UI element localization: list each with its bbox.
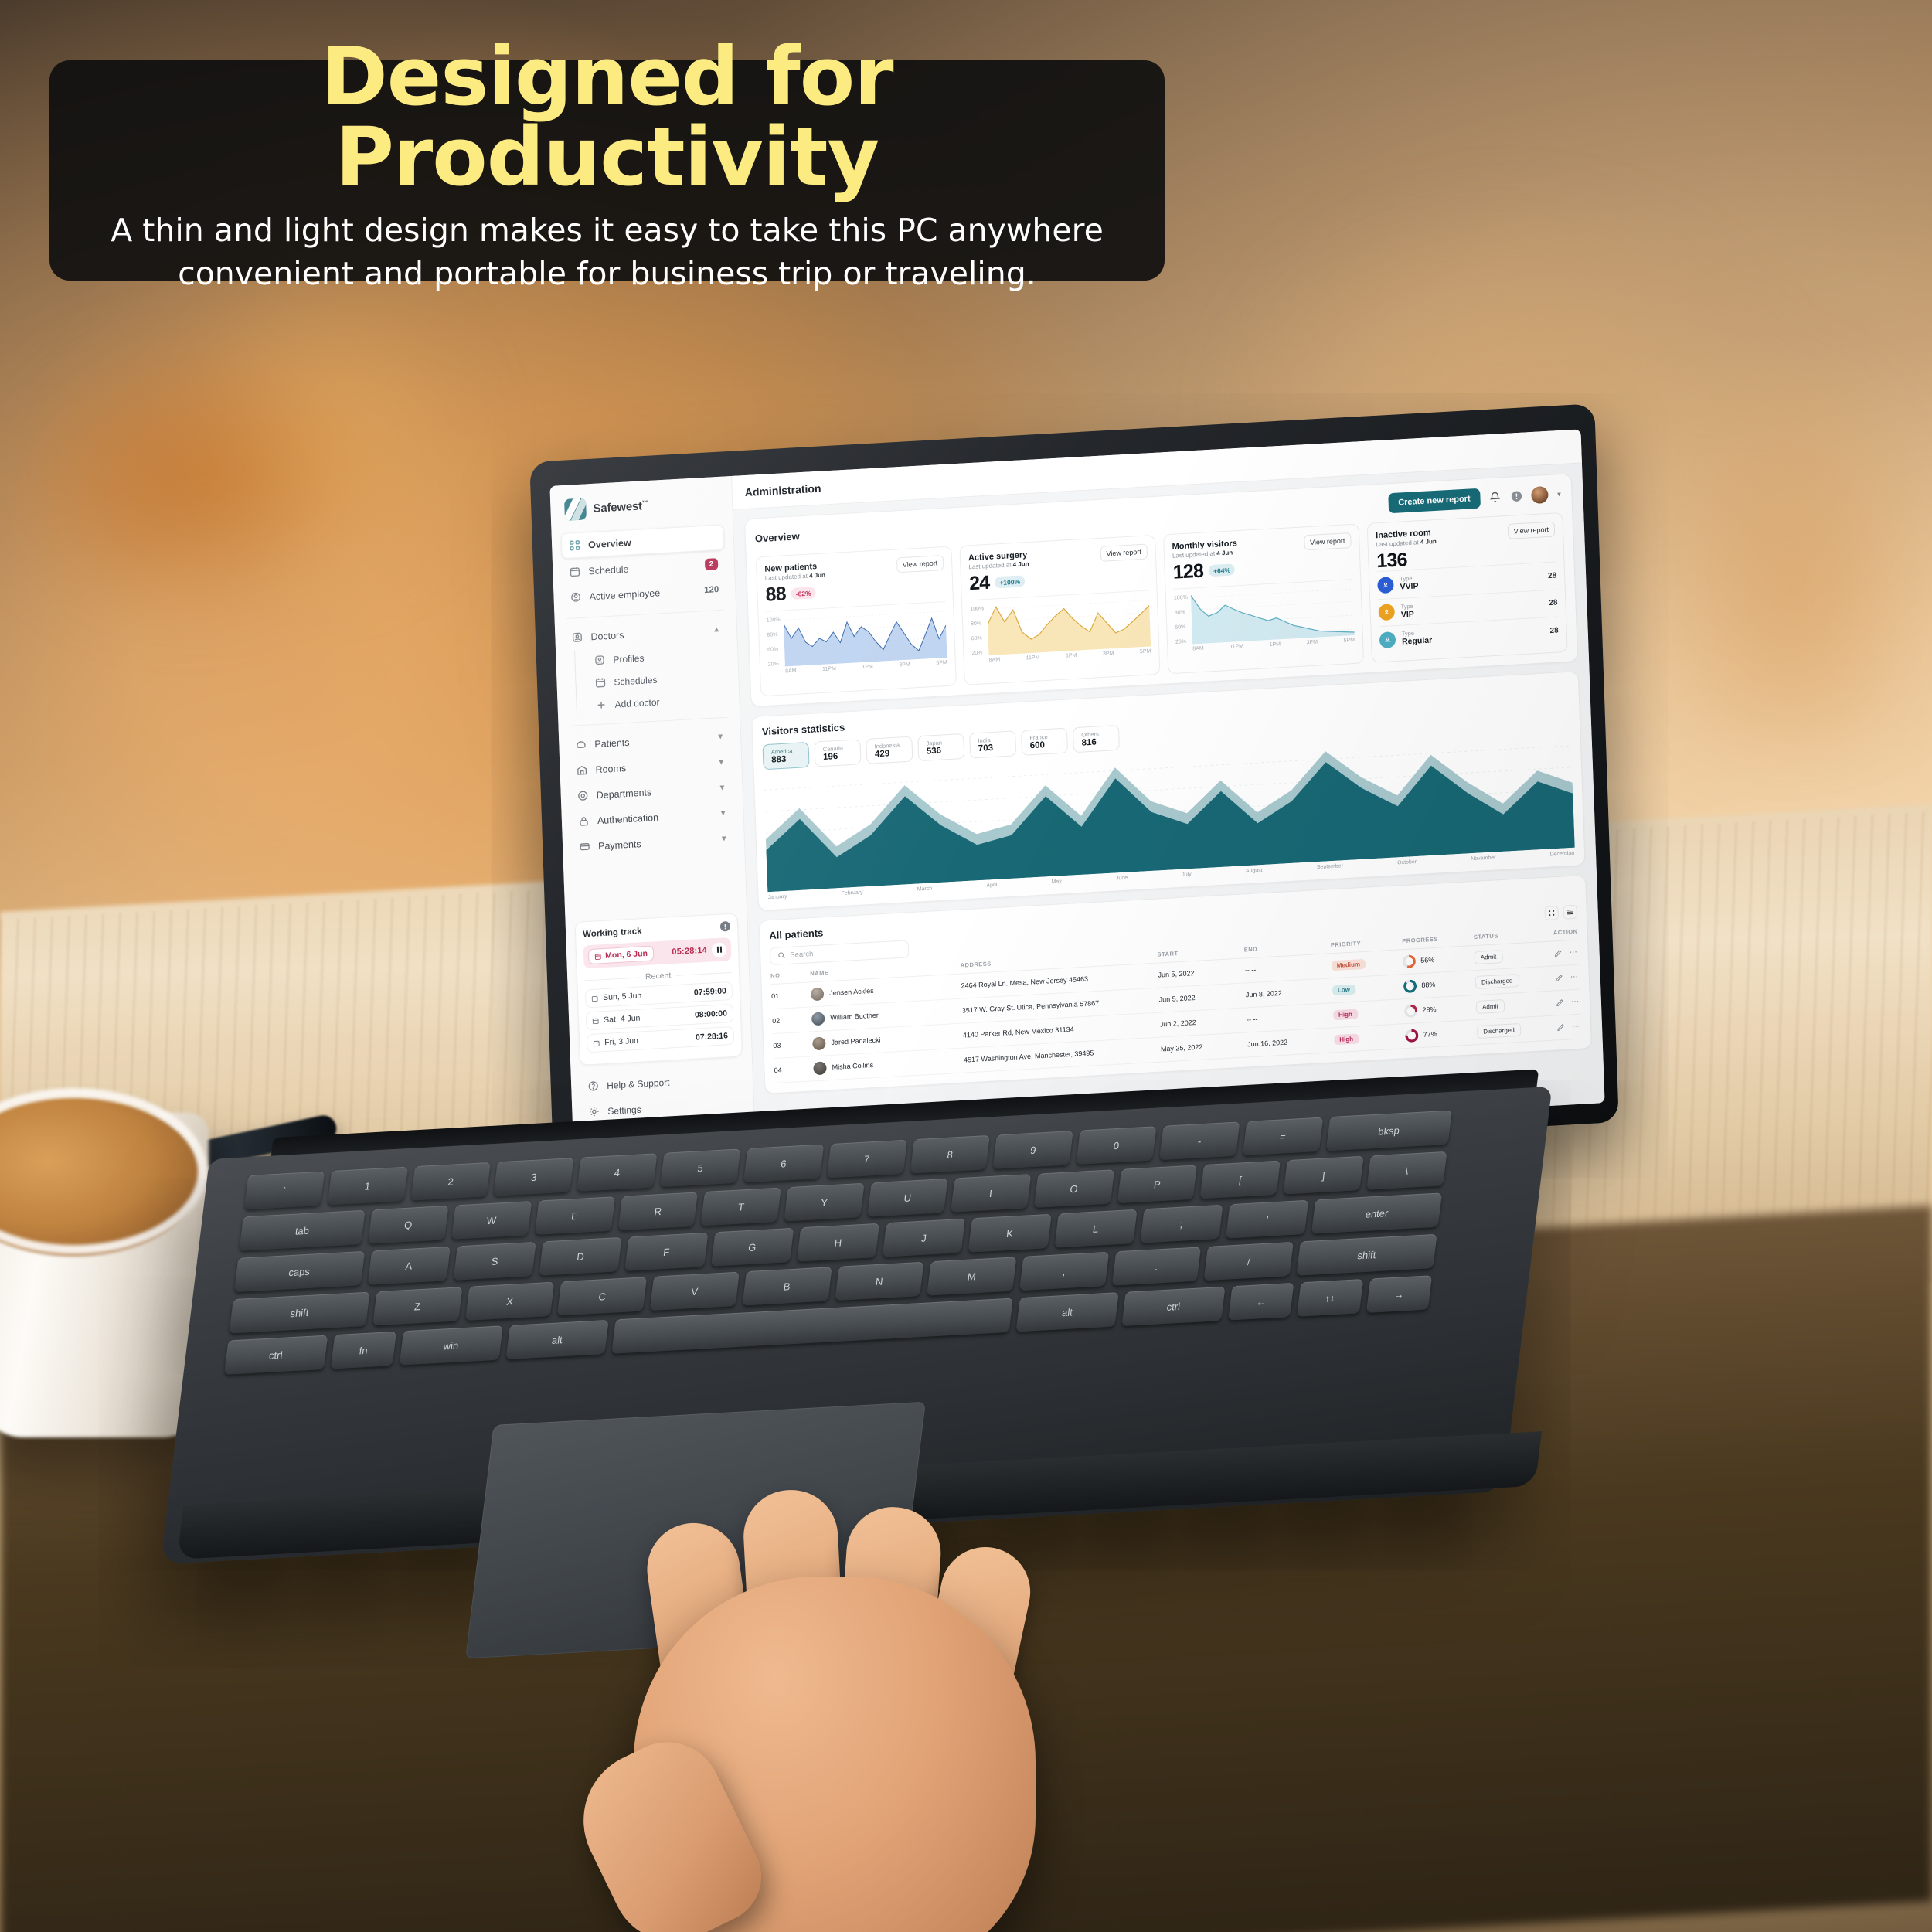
- ellipsis-icon[interactable]: ⋯: [1572, 1022, 1580, 1031]
- area-chart-monthly-visitors: [1191, 584, 1355, 645]
- key-C[interactable]: C: [557, 1277, 647, 1315]
- overview-title: Overview: [755, 530, 800, 544]
- month-label: May: [1051, 879, 1061, 885]
- key-.[interactable]: .: [1111, 1247, 1201, 1285]
- sidebar-item-add-doctor-label: Add doctor: [614, 696, 659, 709]
- progress-value: 56%: [1420, 956, 1434, 964]
- banner-headline: Designed for Productivity: [80, 36, 1134, 197]
- cell-name: Jared Padalecki: [812, 1029, 963, 1050]
- alert-icon[interactable]: [1509, 489, 1524, 504]
- status-badge: Admit: [1475, 950, 1503, 964]
- cell-progress: 88%: [1403, 976, 1475, 993]
- sidebar-item-profiles-label: Profiles: [613, 652, 644, 665]
- pencil-icon[interactable]: [1556, 998, 1564, 1007]
- patients-icon: [575, 739, 587, 751]
- priority-badge: Low: [1332, 984, 1355, 995]
- sidebar-item-overview-label: Overview: [588, 537, 631, 550]
- y-tick: 60%: [767, 647, 781, 653]
- sparkline-active-surgery: 100%80%60%20% 8AM: [970, 590, 1151, 667]
- key-P[interactable]: P: [1117, 1165, 1197, 1203]
- card-subtitle-date: 4 Jun: [1013, 560, 1029, 568]
- calendar-icon: [593, 1039, 600, 1046]
- key-T[interactable]: T: [701, 1188, 781, 1226]
- create-new-report-button[interactable]: Create new report: [1388, 488, 1481, 514]
- active-employee-count: 120: [704, 585, 719, 595]
- room-type-count: 28: [1548, 571, 1557, 580]
- key-0[interactable]: 0: [1077, 1126, 1157, 1165]
- working-track-active-day[interactable]: Mon, 6 Jun: [588, 945, 654, 964]
- sidebar-nav: Overview Schedule 2 Active employee 120: [561, 525, 736, 861]
- metric-card-new-patients: New patients Last updated at 4 Jun View …: [756, 546, 957, 696]
- working-track-header: Working track !: [583, 921, 730, 939]
- cell-progress: 28%: [1404, 1001, 1476, 1018]
- key-[[interactable]: [: [1200, 1161, 1281, 1199]
- cell-no: 04: [774, 1056, 814, 1083]
- key-win[interactable]: win: [400, 1325, 503, 1365]
- payments-icon: [579, 841, 591, 853]
- avatar: [813, 1061, 827, 1075]
- month-label: December: [1550, 850, 1575, 857]
- type-caption: Type: [1400, 602, 1413, 610]
- recent-day-label: Sat, 4 Jun: [604, 1014, 641, 1026]
- y-tick: 60%: [971, 635, 985, 641]
- chevron-down-icon[interactable]: ▼: [717, 758, 725, 767]
- avatar: [811, 1012, 825, 1026]
- overview-panel: Overview Create new report ▼: [744, 473, 1578, 706]
- column-action: ACTION: [1553, 927, 1578, 940]
- country-tab-america[interactable]: America883: [762, 741, 809, 769]
- sidebar-item-schedules-label: Schedules: [614, 674, 657, 687]
- country-value: 536: [927, 745, 956, 756]
- month-label: October: [1397, 859, 1417, 866]
- key-W[interactable]: W: [451, 1201, 532, 1240]
- search-placeholder: Search: [790, 950, 813, 960]
- x-tick: 1PM: [1066, 653, 1077, 659]
- recent-day-label: Sun, 5 Jun: [603, 991, 642, 1002]
- y-tick: 80%: [1175, 610, 1189, 616]
- ellipsis-icon[interactable]: ⋯: [1570, 947, 1577, 957]
- key-6[interactable]: 6: [743, 1145, 824, 1183]
- sidebar-item-rooms-label: Rooms: [595, 763, 626, 775]
- key-\[interactable]: \: [1366, 1151, 1447, 1190]
- recent-time: 07:59:00: [694, 986, 726, 997]
- month-label: August: [1246, 867, 1263, 873]
- card-subtitle-date: 4 Jun: [1216, 549, 1233, 556]
- country-tab-others[interactable]: Others816: [1073, 724, 1120, 752]
- hand: [541, 1314, 1097, 1932]
- key-R[interactable]: R: [617, 1192, 698, 1230]
- room-type-label: TypeRegular: [1402, 628, 1433, 648]
- chevron-down-icon[interactable]: ▼: [1556, 490, 1562, 497]
- key-Q[interactable]: Q: [368, 1206, 448, 1244]
- view-report-button[interactable]: View report: [1507, 522, 1555, 539]
- cell-name: William Bucther: [811, 1004, 962, 1026]
- country-tab-indonesia[interactable]: Indonesia429: [866, 736, 913, 764]
- metric-card-monthly-visitors: Monthly visitors Last updated at 4 Jun V…: [1163, 523, 1364, 673]
- key-`[interactable]: `: [244, 1172, 325, 1210]
- key-9[interactable]: 9: [993, 1131, 1073, 1169]
- safewest-logo-icon: [564, 498, 587, 521]
- x-tick: 1PM: [862, 664, 873, 670]
- overview-actions: Create new report ▼: [1388, 484, 1563, 513]
- key-tab[interactable]: tab: [239, 1210, 365, 1251]
- key-bksp[interactable]: bksp: [1326, 1110, 1452, 1151]
- key-'[interactable]: ': [1226, 1200, 1308, 1239]
- cell-action: ⋯: [1556, 997, 1580, 1007]
- x-tick: 11PM: [822, 666, 836, 672]
- progress-ring: [1403, 979, 1417, 993]
- card-subtitle-date: 4 Jun: [1420, 538, 1437, 546]
- working-track-recent-row[interactable]: Sun, 5 Jun 07:59:00: [585, 981, 733, 1008]
- country-value: 883: [771, 753, 801, 764]
- status-badge: Discharged: [1477, 1022, 1521, 1038]
- country-value: 429: [875, 748, 904, 759]
- key-→[interactable]: →: [1366, 1275, 1432, 1313]
- patient-name: Jensen Ackles: [829, 987, 874, 997]
- key-L[interactable]: L: [1054, 1209, 1137, 1248]
- profile-icon: [594, 654, 606, 666]
- visitors-statistics-panel: Visitors statistics America883 Canada196…: [751, 671, 1585, 911]
- metric-card-inactive-room: Inactive room Last updated at 4 Jun View…: [1367, 512, 1568, 662]
- people-icon: [1381, 580, 1389, 590]
- month-label: November: [1471, 855, 1495, 862]
- user-check-icon: [570, 591, 582, 604]
- key-fn[interactable]: fn: [330, 1332, 396, 1369]
- y-tick: 80%: [971, 621, 985, 627]
- key-↑↓[interactable]: ↑↓: [1297, 1279, 1363, 1317]
- schedule-badge: 2: [705, 558, 719, 570]
- y-axis-labels: 100%80%60%20%: [970, 606, 985, 656]
- view-report-button[interactable]: View report: [896, 555, 944, 573]
- month-label: January: [767, 893, 787, 900]
- country-value: 196: [823, 750, 852, 761]
- month-label: April: [986, 882, 997, 888]
- view-report-button[interactable]: View report: [1304, 532, 1352, 550]
- patient-name: Jared Padalecki: [831, 1036, 880, 1046]
- chevron-down-icon[interactable]: ▼: [718, 784, 726, 793]
- key-Y[interactable]: Y: [784, 1183, 865, 1222]
- room-type-count: 28: [1549, 626, 1559, 635]
- pencil-icon[interactable]: [1555, 973, 1563, 982]
- key-;[interactable]: ;: [1140, 1205, 1223, 1243]
- status-badge: Discharged: [1475, 973, 1519, 988]
- key-K[interactable]: K: [968, 1214, 1051, 1253]
- progress-ring: [1403, 954, 1417, 968]
- working-track-recent-row[interactable]: Fri, 3 Jun 07:28:16: [587, 1026, 735, 1053]
- view-report-button[interactable]: View report: [1100, 544, 1148, 562]
- grid-icon: [569, 539, 581, 552]
- chevron-down-icon[interactable]: ▼: [720, 835, 728, 844]
- card-subtitle-date: 4 Jun: [809, 571, 825, 579]
- key-ctrl[interactable]: ctrl: [224, 1335, 328, 1375]
- key-=[interactable]: =: [1243, 1117, 1323, 1156]
- key-A[interactable]: A: [367, 1247, 450, 1285]
- key-4[interactable]: 4: [577, 1153, 658, 1192]
- key-N[interactable]: N: [835, 1262, 924, 1301]
- cell-no: 03: [773, 1031, 813, 1058]
- doctor-icon: [571, 631, 583, 644]
- key-ctrl[interactable]: ctrl: [1122, 1287, 1226, 1326]
- cell-end: Jun 16, 2022: [1247, 1027, 1335, 1056]
- priority-badge: High: [1334, 1033, 1359, 1045]
- y-tick: 100%: [1174, 595, 1188, 601]
- cell-name: Misha Collins: [813, 1053, 964, 1075]
- brand-name: Safewest™: [593, 498, 648, 515]
- key-Z[interactable]: Z: [372, 1287, 462, 1325]
- patient-name: William Bucther: [830, 1012, 879, 1022]
- sidebar-divider: [567, 610, 724, 619]
- working-track-panel: Working track ! Mon, 6 Jun 05:28:14 Rece…: [575, 913, 743, 1066]
- product-marketing-image: Safewest™ Overview Schedule 2: [0, 0, 1932, 1932]
- y-tick: 20%: [971, 650, 985, 656]
- progress-value: 77%: [1423, 1030, 1437, 1039]
- card-subtitle-prefix: Last updated at: [968, 561, 1013, 570]
- priority-badge: Medium: [1332, 958, 1366, 970]
- x-tick: 8AM: [785, 668, 797, 675]
- working-track-timer: 05:28:14: [672, 946, 707, 957]
- card-subtitle-prefix: Last updated at: [1172, 550, 1217, 560]
- key--[interactable]: -: [1159, 1121, 1240, 1160]
- key-caps[interactable]: caps: [234, 1251, 365, 1292]
- key-U[interactable]: U: [867, 1179, 947, 1217]
- key-5[interactable]: 5: [660, 1148, 740, 1187]
- type-name: VIP: [1401, 610, 1414, 621]
- grid-view-icon[interactable]: [1544, 906, 1559, 920]
- series-visitors: [764, 748, 1575, 891]
- sidebar-item-payments-label: Payments: [598, 838, 641, 852]
- people-icon: [1383, 608, 1391, 617]
- sidebar-item-patients-label: Patients: [594, 736, 630, 749]
- chevron-down-icon[interactable]: ▼: [719, 809, 727, 818]
- card-delta-badge: +100%: [995, 575, 1025, 588]
- key-S[interactable]: S: [453, 1242, 536, 1281]
- y-tick: 80%: [767, 632, 781, 638]
- card-value: 136: [1376, 550, 1407, 571]
- laptop-screen: Safewest™ Overview Schedule 2: [549, 429, 1604, 1159]
- progress-value: 88%: [1421, 981, 1435, 989]
- key-F[interactable]: F: [625, 1233, 708, 1271]
- cell-no: 02: [772, 1006, 812, 1033]
- room-type-label: TypeVVIP: [1400, 574, 1419, 593]
- key-←[interactable]: ←: [1228, 1283, 1294, 1321]
- avatar: [811, 987, 825, 1001]
- sidebar-item-schedule-label: Schedule: [588, 563, 629, 577]
- key-I[interactable]: I: [951, 1174, 1031, 1213]
- lock-icon: [578, 815, 590, 828]
- country-tab-canada[interactable]: Canada196: [814, 739, 861, 767]
- card-delta-badge: -62%: [791, 587, 815, 600]
- area-chart-active-surgery: [987, 596, 1151, 656]
- room-type-icon: [1379, 631, 1396, 648]
- ellipsis-icon[interactable]: ⋯: [1570, 972, 1578, 981]
- recent-text: Recent: [645, 971, 672, 981]
- content-scroll[interactable]: Overview Create new report ▼: [733, 463, 1605, 1149]
- sidebar: Safewest™ Overview Schedule 2: [549, 476, 756, 1160]
- ellipsis-icon[interactable]: ⋯: [1571, 997, 1579, 1006]
- sidebar-item-settings-label: Settings: [607, 1104, 641, 1116]
- calendar-icon: [592, 1017, 599, 1024]
- y-axis-labels: 100%80%60%20%: [767, 617, 782, 668]
- list-view-icon[interactable]: [1563, 905, 1577, 920]
- room-type-label: TypeVIP: [1400, 602, 1414, 620]
- progress-ring: [1404, 1004, 1418, 1018]
- priority-badge: High: [1333, 1009, 1358, 1020]
- y-tick: 100%: [970, 606, 984, 612]
- doctors-subnav: Profiles Schedules Add doctor: [574, 643, 730, 719]
- key-V[interactable]: V: [650, 1272, 740, 1311]
- room-type-count: 28: [1549, 599, 1558, 608]
- country-value: 600: [1029, 740, 1059, 750]
- cell-action: ⋯: [1556, 1022, 1581, 1032]
- key-O[interactable]: O: [1034, 1169, 1114, 1208]
- plus-icon: [595, 699, 607, 711]
- recent-time: 07:28:16: [696, 1031, 728, 1042]
- y-tick: 100%: [767, 617, 781, 624]
- x-tick: 3PM: [1103, 651, 1114, 657]
- chevron-down-icon[interactable]: ▼: [716, 733, 724, 742]
- card-value: 24: [969, 573, 990, 594]
- cell-progress: 77%: [1405, 1026, 1477, 1043]
- key-8[interactable]: 8: [910, 1135, 990, 1174]
- pause-icon[interactable]: [712, 942, 727, 957]
- bell-icon[interactable]: [1488, 490, 1502, 505]
- view-toggles: [1544, 905, 1577, 920]
- cell-action: ⋯: [1554, 947, 1579, 957]
- x-tick: 1PM: [1270, 641, 1281, 648]
- working-track-recent-row[interactable]: Sat, 4 Jun 08:00:00: [586, 1004, 734, 1030]
- cell-start: May 25, 2022: [1160, 1032, 1247, 1061]
- key-shift[interactable]: shift: [230, 1292, 370, 1334]
- pencil-icon[interactable]: [1556, 1022, 1565, 1032]
- banner-subtitle: A thin and light design makes it easy to…: [97, 209, 1117, 295]
- key-E[interactable]: E: [535, 1196, 615, 1235]
- type-name: Regular: [1402, 636, 1433, 648]
- country-value: 703: [978, 742, 1008, 753]
- metric-card-active-surgery: Active surgery Last updated at 4 Jun Vie…: [959, 535, 1160, 685]
- x-tick: 5PM: [1343, 638, 1355, 644]
- card-delta-badge: +64%: [1209, 563, 1235, 577]
- x-tick: 11PM: [1026, 655, 1040, 661]
- key-7[interactable]: 7: [827, 1140, 907, 1179]
- country-tab-japan[interactable]: Japan536: [917, 733, 964, 760]
- cell-name: Jensen Ackles: [811, 979, 961, 1001]
- help-icon: [587, 1080, 600, 1093]
- x-tick: 5PM: [1140, 648, 1151, 655]
- type-caption: Type: [1400, 575, 1413, 583]
- key-/[interactable]: /: [1204, 1242, 1294, 1281]
- type-caption: Type: [1402, 630, 1415, 638]
- key-1[interactable]: 1: [328, 1167, 408, 1206]
- patient-name: Misha Collins: [832, 1061, 873, 1071]
- info-icon[interactable]: !: [720, 921, 730, 932]
- calendar-icon: [569, 566, 581, 578]
- chevron-up-icon[interactable]: ▲: [713, 625, 720, 634]
- recent-time: 08:00:00: [695, 1009, 727, 1019]
- card-subtitle-prefix: Last updated at: [765, 573, 810, 582]
- month-label: July: [1182, 872, 1192, 878]
- departments-icon: [577, 790, 590, 802]
- progress-value: 28%: [1422, 1005, 1436, 1014]
- key-2[interactable]: 2: [410, 1162, 491, 1201]
- month-label: March: [917, 886, 933, 892]
- sidebar-divider-2: [571, 717, 728, 726]
- key-J[interactable]: J: [883, 1219, 965, 1257]
- cell-no: 01: [771, 981, 811, 1009]
- avatar[interactable]: [1531, 486, 1549, 504]
- month-label: February: [842, 889, 863, 896]
- month-label: September: [1317, 863, 1343, 870]
- all-patients-panel: All patients Search: [759, 874, 1592, 1094]
- key-shift[interactable]: shift: [1296, 1234, 1437, 1276]
- recent-day-label: Fri, 3 Jun: [604, 1036, 638, 1047]
- country-value: 816: [1081, 736, 1111, 747]
- x-tick: 5PM: [936, 660, 947, 666]
- x-tick: 8AM: [1192, 646, 1204, 652]
- key-][interactable]: ]: [1284, 1156, 1364, 1195]
- y-tick: 20%: [1175, 639, 1189, 645]
- key-H[interactable]: H: [797, 1223, 879, 1262]
- sidebar-item-doctors-label: Doctors: [590, 629, 624, 641]
- cell-progress: 56%: [1403, 951, 1475, 968]
- key-,[interactable]: ,: [1019, 1252, 1109, 1291]
- cell-action: ⋯: [1555, 972, 1580, 982]
- people-icon: [1383, 635, 1392, 645]
- country-tab-france[interactable]: France600: [1021, 727, 1068, 755]
- room-type-icon: [1378, 604, 1395, 621]
- key-B[interactable]: B: [742, 1267, 832, 1305]
- key-D[interactable]: D: [539, 1237, 622, 1276]
- x-tick: 8AM: [989, 657, 1001, 663]
- sparkline-monthly-visitors: 100%80%60%20% 8AM: [1174, 579, 1355, 655]
- sidebar-item-help-label: Help & Support: [607, 1077, 670, 1090]
- key-3[interactable]: 3: [494, 1158, 574, 1196]
- pencil-icon[interactable]: [1554, 948, 1563, 957]
- y-axis-labels: 100%80%60%20%: [1174, 595, 1189, 645]
- search-icon: [777, 951, 785, 960]
- working-track-title: Working track: [583, 927, 642, 939]
- brand-name-text: Safewest: [593, 499, 642, 515]
- card-value: 88: [765, 584, 786, 604]
- sidebar-item-departments-label: Departments: [596, 787, 651, 801]
- area-chart-new-patients: [784, 607, 947, 667]
- y-tick: 60%: [1175, 624, 1189, 631]
- type-name: VVIP: [1400, 582, 1418, 593]
- gear-icon: [588, 1106, 600, 1118]
- key-M[interactable]: M: [927, 1257, 1016, 1295]
- x-tick: 3PM: [1307, 640, 1318, 646]
- room-type-icon: [1377, 577, 1394, 594]
- working-track-day-label: Mon, 6 Jun: [605, 949, 648, 961]
- sidebar-item-authentication-label: Authentication: [597, 811, 659, 825]
- calendar-icon: [594, 676, 607, 689]
- country-tab-india[interactable]: India703: [969, 730, 1016, 758]
- rooms-icon: [576, 764, 588, 777]
- working-track-active-row: Mon, 6 Jun 05:28:14: [583, 937, 732, 968]
- brand-trademark: ™: [642, 498, 648, 505]
- calendar-icon: [591, 995, 598, 1002]
- calendar-icon: [594, 953, 601, 960]
- x-tick: 3PM: [899, 662, 910, 668]
- key-G[interactable]: G: [711, 1228, 794, 1267]
- progress-ring: [1405, 1029, 1419, 1043]
- month-label: June: [1116, 875, 1128, 881]
- sparkline-new-patients: 100%80%60%20% 8AM: [766, 601, 947, 678]
- search-input[interactable]: Search: [770, 940, 910, 965]
- y-tick: 20%: [768, 662, 782, 668]
- status-badge: Admit: [1476, 999, 1505, 1014]
- main-content: Administration Overview Create new repor…: [732, 429, 1605, 1149]
- key-enter[interactable]: enter: [1311, 1192, 1442, 1233]
